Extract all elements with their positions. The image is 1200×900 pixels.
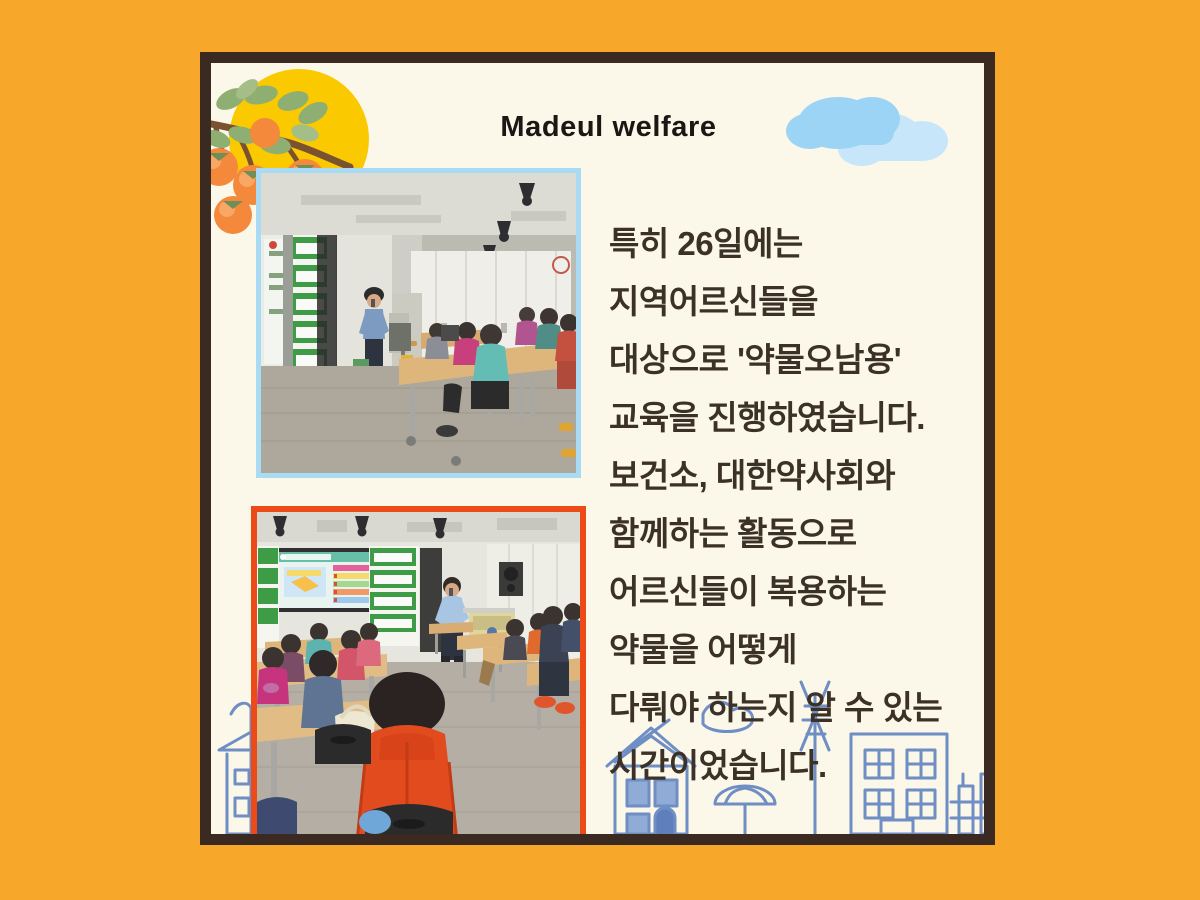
body-line: 대상으로 '약물오남용' bbox=[609, 331, 995, 389]
body-line: 시간이었습니다. bbox=[609, 737, 995, 795]
photo-lecture-room-back bbox=[251, 506, 586, 845]
body-line: 다뤄야 하는지 알 수 있는 bbox=[609, 679, 995, 737]
body-line: 지역어르신들을 bbox=[609, 273, 995, 331]
body-line: 함께하는 활동으로 bbox=[609, 505, 995, 563]
body-line: 특히 26일에는 bbox=[609, 215, 995, 273]
page-title: Madeul welfare bbox=[211, 111, 995, 144]
body-line: 약물을 어떻게 bbox=[609, 621, 995, 679]
body-line: 보건소, 대한약사회와 bbox=[609, 447, 995, 505]
body-text-block: 특히 26일에는 지역어르신들을 대상으로 '약물오남용' 교육을 진행하였습니… bbox=[609, 215, 995, 795]
body-line: 어르신들이 복용하는 bbox=[609, 563, 995, 621]
poster-canvas: Madeul welfare bbox=[0, 0, 1200, 900]
photo-lecture-room-wide bbox=[256, 168, 581, 478]
poster-frame: Madeul welfare bbox=[200, 52, 995, 845]
body-line: 교육을 진행하였습니다. bbox=[609, 389, 995, 447]
